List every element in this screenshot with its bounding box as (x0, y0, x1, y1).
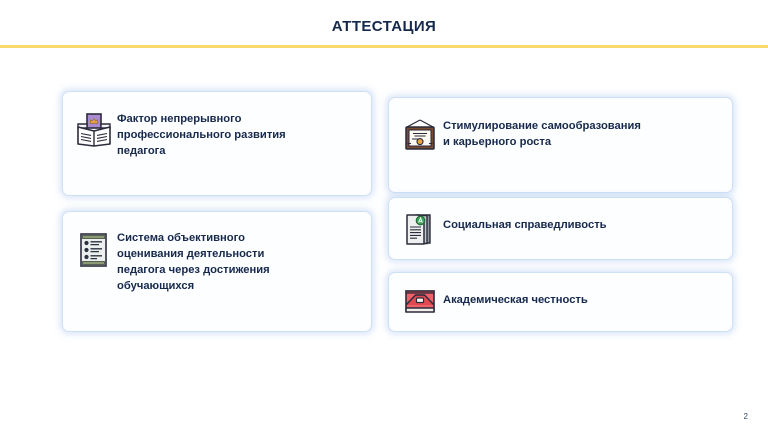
info-card-continuous-development[interactable]: Фактор непрерывного профессионального ра… (62, 91, 372, 196)
info-card-label: Фактор непрерывного профессионального ра… (117, 112, 363, 160)
info-card-objective-assessment[interactable]: Система объективного оценивания деятельн… (62, 211, 372, 332)
framed-certificate-icon (397, 118, 443, 154)
open-book-with-crown-icon (71, 112, 117, 150)
info-card-academic-honesty[interactable]: Академическая честность (388, 272, 733, 332)
info-card-label: Социальная справедливость (443, 212, 724, 234)
info-card-label: Академическая честность (443, 287, 724, 309)
page-title: АТТЕСТАЦИЯ (0, 18, 768, 35)
page-number: 2 (744, 412, 748, 421)
info-card-label: Стимулирование самообразования и карьерн… (443, 118, 724, 151)
info-card-label: Система объективного оценивания деятельн… (117, 231, 363, 295)
stacked-documents-badge-icon (397, 212, 443, 248)
title-divider-rule (0, 45, 768, 48)
info-card-social-justice[interactable]: Социальная справедливость (388, 197, 733, 260)
red-envelope-icon (397, 287, 443, 317)
info-card-self-education-career[interactable]: Стимулирование самообразования и карьерн… (388, 97, 733, 193)
checklist-document-icon (71, 231, 117, 269)
